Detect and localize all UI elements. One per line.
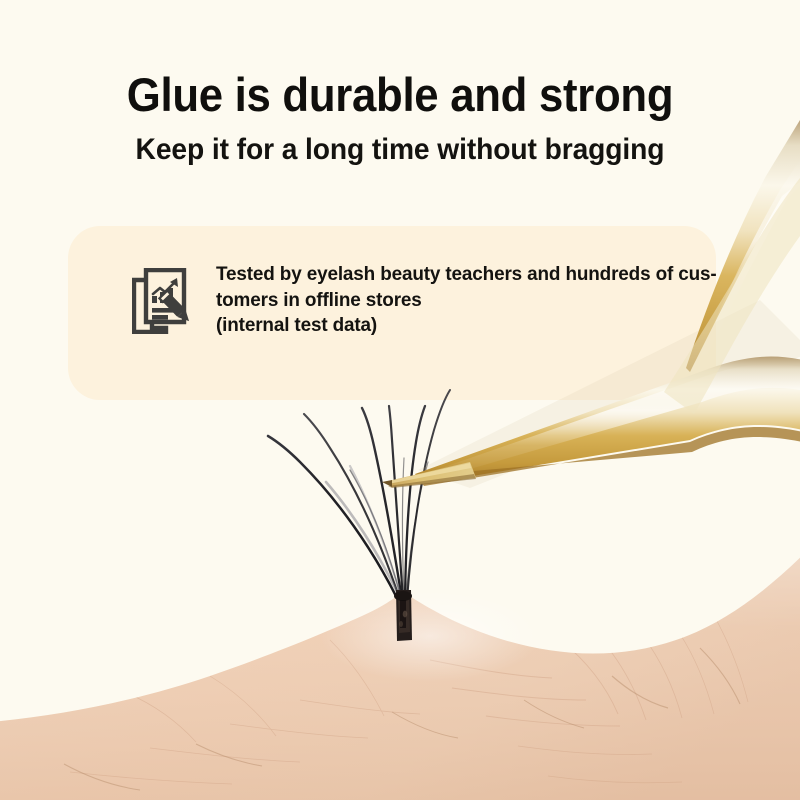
test-info-card: Tested by eyelash beauty teachers and hu… [68,226,716,400]
glue-bond [394,590,412,641]
card-line-3: (internal test data) [216,313,672,339]
card-line-2: tomers in offline stores [216,288,672,314]
card-text-block: Tested by eyelash beauty teachers and hu… [216,262,686,339]
card-line-1: Tested by eyelash beauty teachers and hu… [216,262,672,288]
heading-block: Glue is durable and strong Keep it for a… [0,0,800,170]
page-title: Glue is durable and strong [28,0,772,124]
page-subtitle: Keep it for a long time without bragging [24,124,776,170]
report-chart-pencil-icon [132,268,194,334]
promo-image: Tested by eyelash beauty teachers and hu… [0,0,800,800]
